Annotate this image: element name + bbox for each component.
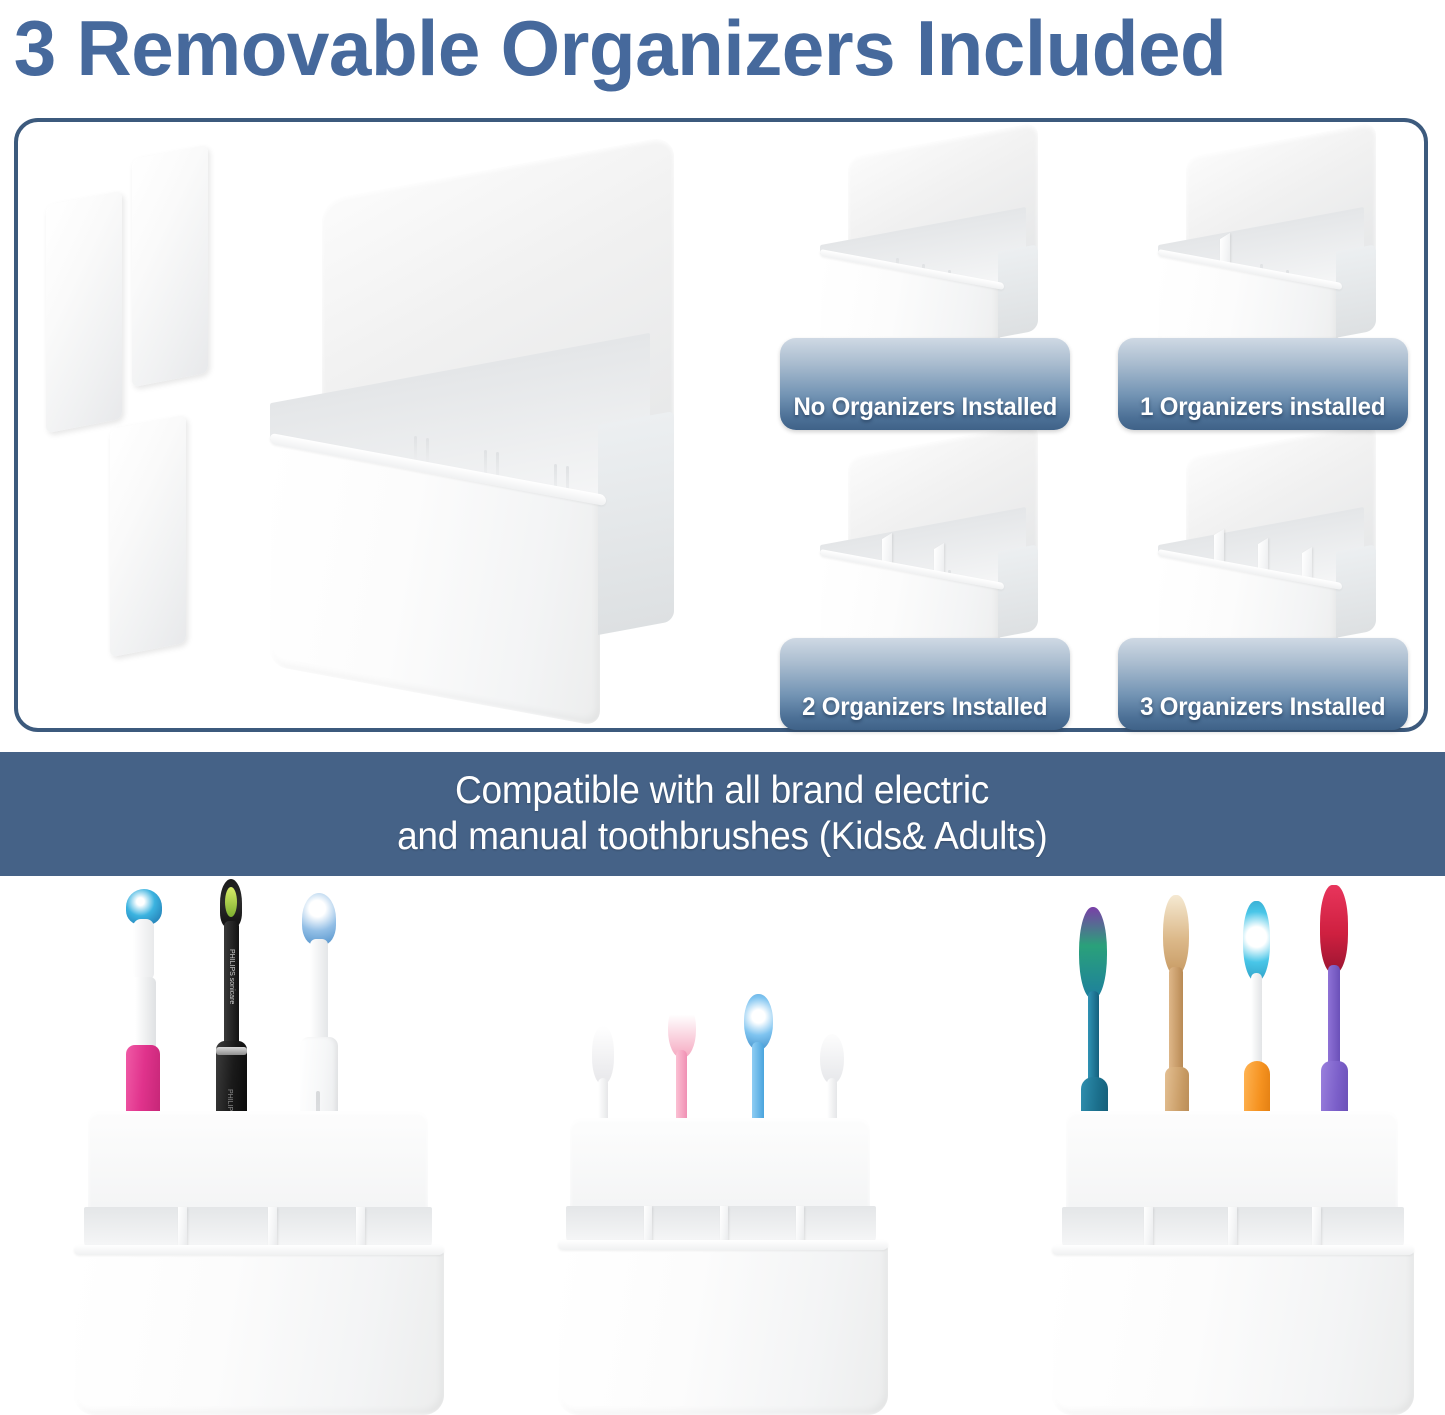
holder-rim [1052,1245,1414,1255]
banner-line-2: and manual toothbrushes (Kids& Adults) [397,815,1047,859]
bristle-head [1320,885,1348,973]
page-title: 3 Removable Organizers Included [0,2,1416,94]
holder-side-face [998,544,1038,637]
bristle-head [1243,901,1270,981]
holder-rim [558,1240,888,1250]
holder-front-face [1052,1249,1414,1415]
brush-head [133,919,154,981]
variant-holder-2 [808,440,1048,670]
bristle-head [302,893,336,945]
brand-text-sonicare-neck: PHILIPS sonicare [228,949,235,1004]
variant-badge-two-organizers: 2 Organizers Installed [780,638,1070,730]
brush-neck [1169,967,1183,1075]
holder-rim [74,1245,444,1255]
brush-neck [1088,991,1099,1085]
variant-no-organizers: No Organizers Installed [770,140,1090,430]
organizer-plate-1 [46,191,122,434]
variant-two-organizers: 2 Organizers Installed [770,440,1090,730]
product-panel: No Organizers Installed 1 Organizers ins… [14,118,1428,732]
variant-holder-3 [1146,440,1386,670]
holder-side-face [998,244,1038,337]
variant-badge-one-organizer: 1 Organizers installed [1118,338,1408,430]
variant-badge-no-organizers: No Organizers Installed [780,338,1070,430]
electric-toothbrush-scene: PHILIPS sonicare PHILIPS sonicare [60,885,460,1415]
brush-neck [310,939,328,1047]
scene-holder-kids [548,1118,898,1415]
holder-side-face [1336,244,1376,337]
holder-front-face [558,1244,888,1415]
bristle-tuft-green [225,887,237,917]
manual-toothbrush-scene: CURAPROX [1040,885,1430,1415]
variant-label: 3 Organizers Installed [1140,693,1385,722]
bristle-head [1163,895,1189,975]
compatibility-banner: Compatible with all brand electric and m… [0,752,1445,876]
brush-neck [1251,973,1262,1069]
variant-three-organizers: 3 Organizers Installed [1108,440,1428,730]
holder-front-face [74,1249,444,1415]
bristle-head [592,1026,614,1084]
variant-label: No Organizers Installed [793,393,1057,422]
variant-label: 2 Organizers Installed [802,693,1047,722]
banner-line-1: Compatible with all brand electric [456,769,990,813]
scene-holder-electric [60,1111,460,1415]
variant-label: 1 Organizers installed [1140,393,1385,422]
brush-neck [1328,965,1340,1069]
organizer-plate-2 [132,145,208,388]
variant-holder-1 [1146,140,1386,370]
bristle-head [820,1034,844,1084]
organizer-plate-3 [110,415,186,658]
variant-badge-three-organizers: 3 Organizers Installed [1118,638,1408,730]
brush-neck [130,977,156,1053]
scene-holder-manual [1040,1111,1430,1415]
bristle-head [1079,907,1107,999]
variant-holder-0 [808,140,1048,370]
variant-one-organizer: 1 Organizers installed [1108,140,1428,430]
main-toothbrush-holder [248,168,708,688]
holder-side-face [598,411,674,635]
metal-ring [216,1047,247,1055]
holder-side-face [1336,544,1376,637]
kids-toothbrush-scene [548,1000,898,1415]
